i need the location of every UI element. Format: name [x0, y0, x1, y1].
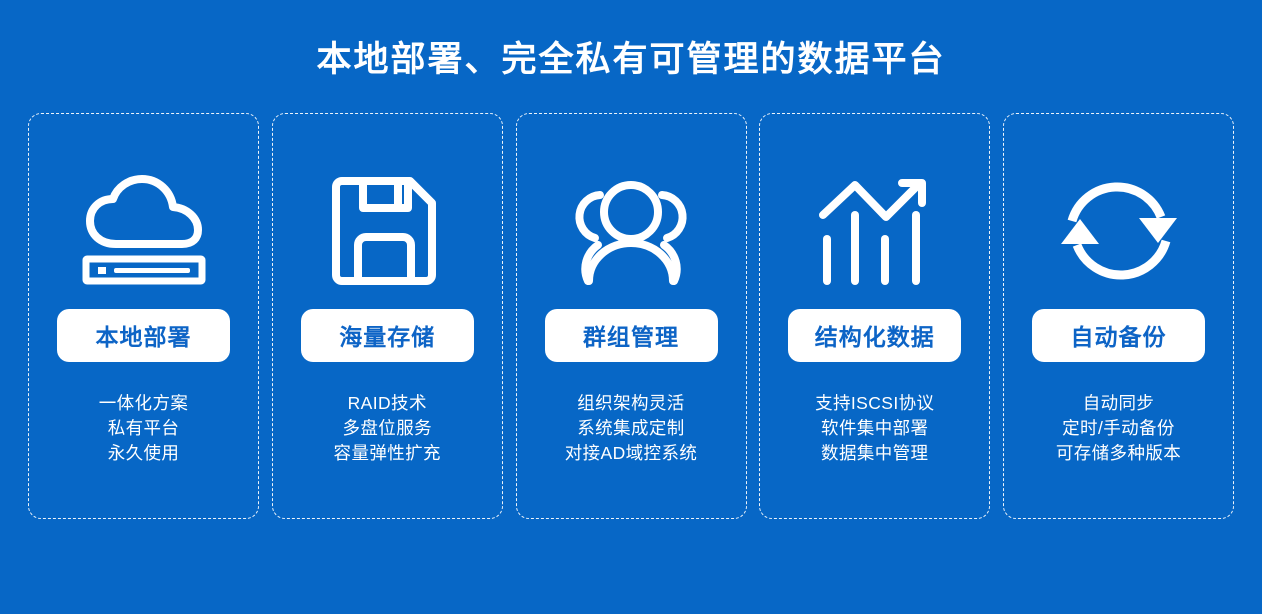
desc-line: 多盘位服务 [334, 416, 441, 441]
desc-line: 私有平台 [99, 416, 189, 441]
desc-line: 支持ISCSI协议 [815, 391, 934, 416]
feature-card-local-deployment[interactable]: 本地部署 一体化方案 私有平台 永久使用 [28, 113, 259, 519]
cloud-server-icon [77, 154, 211, 309]
card-description: 支持ISCSI协议 软件集中部署 数据集中管理 [815, 391, 934, 466]
card-description: RAID技术 多盘位服务 容量弹性扩充 [334, 391, 441, 466]
card-description: 组织架构灵活 系统集成定制 对接AD域控系统 [565, 391, 698, 466]
badge-mass-storage[interactable]: 海量存储 [301, 309, 474, 362]
desc-line: 对接AD域控系统 [565, 441, 698, 466]
desc-line: 系统集成定制 [565, 416, 698, 441]
desc-line: 可存储多种版本 [1056, 441, 1181, 466]
page-title: 本地部署、完全私有可管理的数据平台 [316, 38, 945, 82]
card-description: 一体化方案 私有平台 永久使用 [99, 391, 189, 466]
desc-line: 数据集中管理 [815, 441, 934, 466]
feature-card-group-management[interactable]: 群组管理 组织架构灵活 系统集成定制 对接AD域控系统 [516, 113, 747, 519]
bar-chart-growth-icon [817, 154, 933, 309]
feature-card-mass-storage[interactable]: 海量存储 RAID技术 多盘位服务 容量弹性扩充 [272, 113, 503, 519]
feature-card-structured-data[interactable]: 结构化数据 支持ISCSI协议 软件集中部署 数据集中管理 [759, 113, 990, 519]
desc-line: 组织架构灵活 [565, 391, 698, 416]
badge-structured-data[interactable]: 结构化数据 [788, 309, 961, 362]
feature-highlight-page: 本地部署、完全私有可管理的数据平台 本地部署 一体化方案 私有平台 永久使用 [0, 0, 1262, 614]
feature-card-auto-backup[interactable]: 自动备份 自动同步 定时/手动备份 可存储多种版本 [1003, 113, 1234, 519]
card-description: 自动同步 定时/手动备份 可存储多种版本 [1056, 391, 1181, 466]
desc-line: 容量弹性扩充 [334, 441, 441, 466]
badge-auto-backup[interactable]: 自动备份 [1032, 309, 1205, 362]
desc-line: 定时/手动备份 [1056, 416, 1181, 441]
desc-line: RAID技术 [334, 391, 441, 416]
desc-line: 一体化方案 [99, 391, 189, 416]
user-group-icon [558, 154, 704, 309]
desc-line: 永久使用 [99, 441, 189, 466]
floppy-disk-icon [332, 154, 442, 309]
badge-group-management[interactable]: 群组管理 [545, 309, 718, 362]
sync-refresh-icon [1058, 154, 1180, 309]
desc-line: 软件集中部署 [815, 416, 934, 441]
feature-card-row: 本地部署 一体化方案 私有平台 永久使用 海量存储 RAID技术 多盘位服务 [28, 113, 1234, 519]
desc-line: 自动同步 [1056, 391, 1181, 416]
badge-local-deployment[interactable]: 本地部署 [57, 309, 230, 362]
